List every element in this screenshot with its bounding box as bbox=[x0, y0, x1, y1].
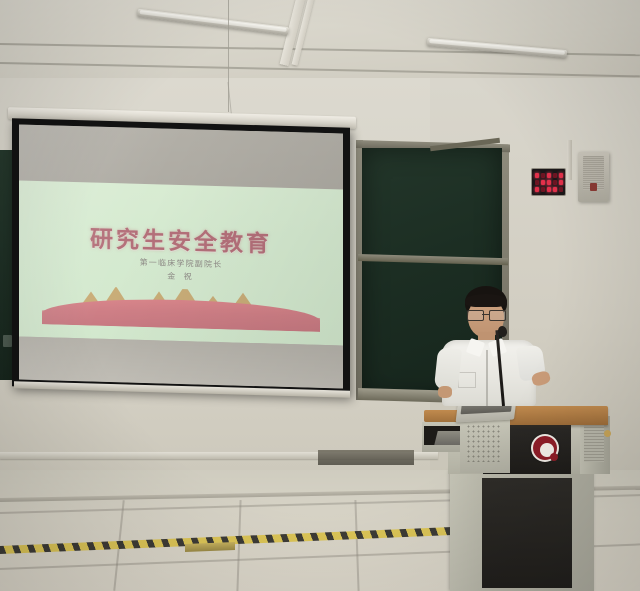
screen-blank-bottom bbox=[19, 336, 343, 388]
presenter bbox=[436, 286, 556, 406]
wall-vent bbox=[318, 450, 414, 465]
presenter-shirt-placket bbox=[486, 350, 488, 406]
chalk-mark bbox=[3, 335, 12, 347]
lecture-hall-photo: 研究生安全教育 第一临床学院副院长 金 祝 bbox=[0, 0, 640, 591]
presentation-slide: 研究生安全教育 第一临床学院副院长 金 祝 bbox=[19, 181, 343, 346]
presenter-arm-left bbox=[434, 347, 462, 391]
microphone-head-icon bbox=[497, 325, 508, 338]
projection-screen[interactable]: 研究生安全教育 第一临床学院副院长 金 祝 bbox=[12, 118, 350, 395]
podium[interactable] bbox=[420, 392, 616, 591]
presenter-hand-left bbox=[438, 386, 452, 398]
projection-surface: 研究生安全教育 第一临床学院副院长 金 祝 bbox=[19, 124, 343, 388]
wall-speaker-unit bbox=[578, 152, 609, 202]
university-emblem bbox=[531, 434, 559, 462]
red-led-matrix-display bbox=[531, 168, 566, 196]
presenter-fringe bbox=[465, 294, 507, 307]
emblem-ring bbox=[533, 436, 557, 460]
emblem-core bbox=[540, 443, 554, 457]
screen-pull-cord[interactable] bbox=[228, 0, 229, 112]
eyeglasses-icon bbox=[467, 310, 506, 319]
wall-conduit bbox=[567, 140, 572, 180]
screen-blank-top bbox=[19, 124, 343, 189]
slide-decorative-band bbox=[42, 285, 321, 332]
slide-wave-front bbox=[42, 296, 321, 332]
podium-lock-knob[interactable] bbox=[604, 430, 611, 437]
podium-front-lower-panel bbox=[482, 478, 572, 588]
presenter-shirt-pocket bbox=[458, 372, 476, 388]
emblem-mark-icon bbox=[550, 453, 558, 461]
podium-control-vent bbox=[466, 424, 500, 462]
speaker-indicator-icon bbox=[590, 183, 597, 191]
podium-right-vent bbox=[584, 424, 604, 462]
